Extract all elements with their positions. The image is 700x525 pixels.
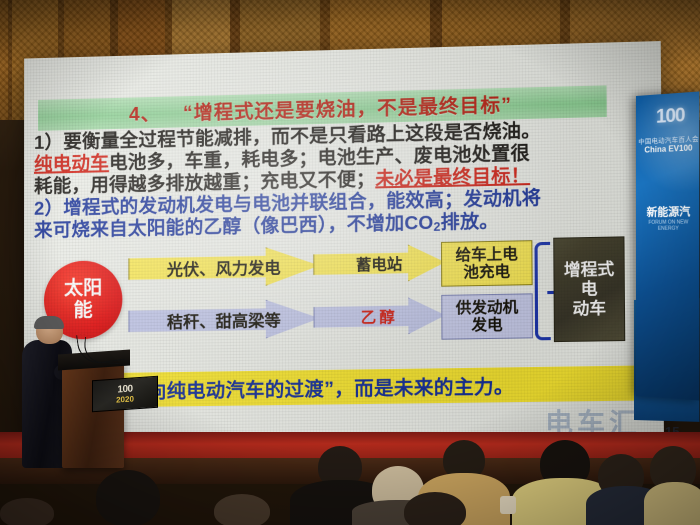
slide-title-text: “增程式还是要烧油，不是最终目标” — [183, 95, 512, 124]
flow-arrow-pv-wind: 光伏、风力发电 — [128, 246, 319, 288]
flow-brace — [534, 242, 550, 340]
audience-head — [0, 498, 54, 525]
flow-arrow-biomass-label: 秸秆、甜高梁等 — [167, 307, 281, 333]
co2-subscript: 2 — [433, 220, 440, 234]
teacup — [500, 496, 516, 514]
flow-arrow-biomass: 秸秆、甜高梁等 — [128, 299, 319, 340]
audience-head — [96, 470, 160, 525]
flow-arrow-storage-station: 蓄电站 — [313, 244, 445, 283]
flow-box-charge-battery: 给车上电 池充电 — [441, 240, 533, 287]
result-line3: 动车 — [572, 299, 606, 319]
speaker-hair — [34, 316, 64, 329]
highlight-not-final-goal: 未必是最终目标！ — [375, 165, 530, 190]
screenshot-root: 4、“增程式还是要烧油，不是最终目标” 1）要衡量全过程节能减排，而不是只看路上… — [0, 0, 700, 525]
highlight-pure-ev: 纯电动车 — [34, 152, 109, 175]
forum-theme: 新能源汽 — [638, 203, 699, 220]
charge-battery-line2: 池充电 — [456, 263, 518, 281]
flow-arrow-storage-label: 蓄电站 — [356, 252, 402, 274]
flow-arrow-ethanol-label: 乙醇 — [361, 305, 398, 327]
audience-head — [214, 494, 270, 525]
flow-node-range-extender-ev: 增程式 电 动车 — [553, 236, 625, 342]
slide-title-number: 4、 — [129, 104, 161, 126]
audience-head — [404, 492, 466, 525]
flow-arrow-ethanol: 乙醇 — [313, 297, 445, 336]
forum-subtitle: FORUM ON NEW ENERGY — [638, 219, 699, 232]
slide-body: 1）要衡量全过程节能减排，而不是只看路上这段是否烧油。 纯电动车电池多，车重，耗… — [34, 117, 655, 246]
podium-nameplate: 100 2020 — [92, 376, 158, 413]
engine-generate-line2: 发电 — [456, 316, 519, 334]
flow-arrow-pv-wind-label: 光伏、风力发电 — [167, 254, 281, 280]
flow-box-engine-generate: 供发动机 发电 — [441, 293, 533, 339]
podium-year: 2020 — [116, 394, 134, 404]
podium — [62, 358, 124, 468]
audience-shoulders — [644, 482, 700, 525]
result-line2: 电 — [581, 279, 598, 299]
conference-side-banner: 100 中国电动汽车百人会 China EV100 新能源汽 FORUM ON … — [636, 91, 699, 400]
body-line-5-tail: 排放。 — [441, 210, 499, 233]
flow-diagram: 太阳 能 光伏、风力发电 秸秆、甜高梁等 蓄电站 乙醇 给车上电 — [30, 236, 659, 368]
result-line1: 增程式 — [564, 260, 614, 280]
charge-battery-line1: 给车上电 — [455, 246, 517, 265]
engine-generate-line1: 供发动机 — [456, 299, 519, 317]
solar-label-line1: 太阳 — [64, 278, 102, 301]
ev100-logo: 100 — [642, 104, 700, 130]
